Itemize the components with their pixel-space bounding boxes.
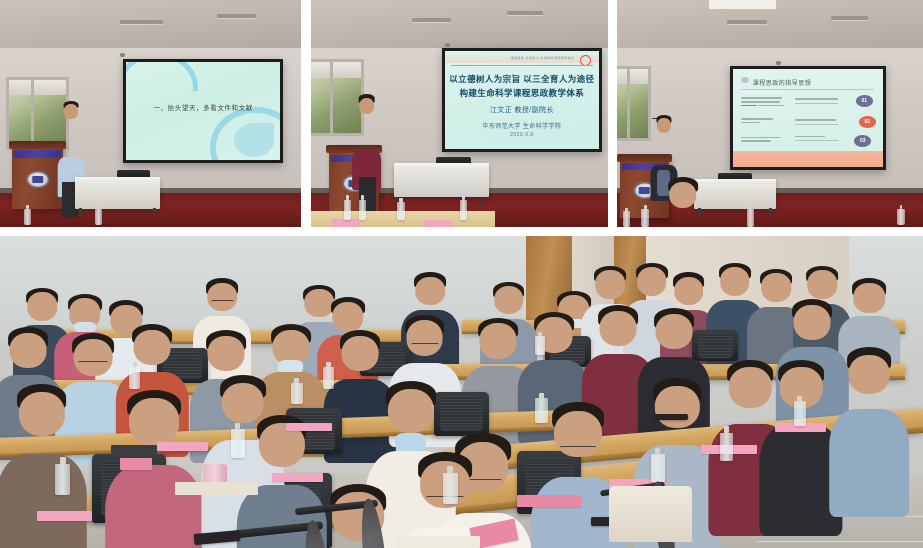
ceiling-vent-icon	[507, 11, 543, 15]
attendee	[258, 423, 304, 504]
attendee	[761, 273, 791, 317]
notebook	[397, 536, 480, 548]
head	[359, 98, 375, 115]
ceiling-vent-icon	[831, 16, 868, 20]
water-bottle	[129, 367, 140, 389]
water-bottle	[95, 209, 102, 225]
table-leg	[79, 208, 82, 216]
slide-bullet-detail	[795, 119, 839, 125]
water-bottle	[397, 202, 405, 220]
lecture-room-1: 一、抬头望天，多看文件和文献	[0, 0, 301, 227]
slide-badge-01: 01	[856, 95, 873, 107]
slide-badge-03: 03	[854, 135, 871, 147]
slide-title-rule	[741, 89, 875, 90]
attendee	[655, 386, 699, 464]
head	[657, 118, 671, 133]
head	[64, 104, 78, 119]
ceiling	[311, 0, 608, 48]
slide-title-line-2: 构建生命科学课程思政教学体系	[445, 87, 599, 99]
slide-content: 课程思政 立德树人 生命科学学院教学体系 以立德树人为宗旨 以三全育人为途径 构…	[445, 51, 599, 149]
ceiling-vent-icon	[217, 14, 256, 18]
slide-bullet-detail	[795, 98, 839, 104]
slide-footer-band	[733, 151, 883, 168]
front-table	[694, 179, 777, 209]
ceiling-vent-icon	[727, 20, 767, 24]
audience-head-foreground	[669, 182, 697, 227]
photo-collage: 一、抬头望天，多看文件和文献	[0, 0, 923, 548]
slide-bullet-group	[741, 137, 782, 144]
attendee	[18, 392, 64, 473]
water-bottle	[359, 200, 367, 220]
slide-title: 课程思政的指导思想	[753, 78, 812, 87]
handout-paper	[157, 442, 208, 451]
projection-screen: 课程思政 立德树人 生命科学学院教学体系 以立德树人为宗旨 以三全育人为途径 构…	[445, 51, 599, 149]
table-edge	[394, 163, 489, 168]
attendee	[849, 355, 890, 427]
window-blind	[9, 80, 66, 95]
slide-content: 课程思政的指导思想 01	[733, 69, 883, 167]
ceiling-light-icon	[709, 0, 776, 9]
water-bottle	[651, 454, 665, 482]
audience-photo-classroom	[0, 236, 923, 548]
slide-bullet-icon	[741, 77, 749, 83]
projection-screen-frame: 课程思政的指导思想 01	[730, 66, 886, 170]
water-bottle	[323, 367, 334, 389]
water-bottle	[231, 429, 245, 457]
window	[617, 66, 651, 141]
water-bottle	[460, 200, 468, 220]
window-blind	[617, 69, 648, 84]
slide-bullet-group	[741, 97, 782, 108]
table-edge	[75, 177, 159, 182]
front-table	[394, 163, 489, 197]
attendee	[272, 330, 309, 386]
attendee-foreground	[554, 411, 602, 498]
water-bottle	[897, 209, 904, 225]
front-table	[75, 177, 159, 209]
slide-bullet-detail	[795, 136, 839, 142]
slide-header-note: 课程思政 立德树人 生命科学学院教学体系	[511, 56, 575, 60]
notebook	[175, 482, 258, 494]
speaker-figure	[354, 98, 379, 189]
attendee	[655, 314, 692, 370]
handout-paper	[517, 495, 582, 507]
slide-heading: 一、抬头望天，多看文件和文献	[126, 102, 280, 112]
lecture-room-3: 课程思政的指导思想 01	[617, 0, 923, 227]
handout-paper	[424, 220, 451, 227]
handout-paper	[272, 473, 323, 482]
water-bottle	[720, 433, 733, 461]
attendee	[729, 367, 771, 442]
water-bottle	[623, 211, 630, 227]
slide-rule	[451, 65, 593, 67]
projection-screen-frame: 一、抬头望天，多看文件和文献	[123, 59, 283, 163]
attendee	[342, 336, 379, 392]
attendee	[720, 267, 750, 311]
slide-presenter: 江文正 教授/副院长	[445, 105, 599, 115]
attendee	[74, 339, 113, 395]
lecture-photo-speaker-three: 课程思政的指导思想 01	[617, 0, 923, 227]
podium	[12, 141, 63, 209]
head	[669, 182, 697, 208]
water-bottle	[747, 209, 754, 227]
attendee	[480, 323, 517, 379]
projection-screen: 课程思政的指导思想 01	[733, 69, 883, 167]
attendee	[305, 289, 335, 333]
water-bottle	[641, 209, 648, 227]
water-bottle	[55, 464, 70, 495]
water-bottle	[443, 473, 458, 504]
window-blind	[311, 62, 361, 78]
water-bottle	[291, 383, 303, 405]
slide-date: 2020.9.9	[445, 132, 599, 138]
attendee	[406, 320, 443, 376]
slide-arc-decor-icon	[126, 62, 197, 123]
table-leg	[698, 208, 701, 216]
table-leg	[769, 208, 772, 216]
handout-paper	[120, 458, 152, 470]
water-bottle	[794, 401, 806, 426]
office-chair	[692, 330, 738, 361]
office-chair	[434, 392, 489, 436]
smartphone	[655, 414, 687, 420]
lecture-room-2: 课程思政 立德树人 生命科学学院教学体系 以立德树人为宗旨 以三全育人为途径 构…	[311, 0, 608, 227]
attendee	[794, 305, 831, 361]
ceiling-vent-icon	[120, 20, 162, 24]
tablet-device	[111, 445, 157, 454]
water-bottle	[535, 336, 545, 355]
floor-seam	[757, 541, 923, 542]
projection-screen: 一、抬头望天，多看文件和文献	[126, 62, 280, 160]
university-crest-icon	[26, 171, 50, 188]
lecture-photo-speaker-two: 课程思政 立德树人 生命科学学院教学体系 以立德树人为宗旨 以三全育人为途径 构…	[311, 0, 608, 227]
slide-affiliation: 华东师范大学 生命科学学院	[445, 121, 599, 130]
projection-screen-frame: 课程思政 立德树人 生命科学学院教学体系 以立德树人为宗旨 以三全育人为途径 构…	[442, 48, 602, 152]
lecture-photo-speaker-one: 一、抬头望天，多看文件和文献	[0, 0, 301, 227]
podium-top	[9, 141, 66, 149]
slide-content: 一、抬头望天，多看文件和文献	[126, 62, 280, 160]
table-edge	[694, 179, 777, 184]
podium-nameplate-icon	[14, 150, 61, 157]
attendee	[208, 283, 238, 327]
slide-title-line-1: 以立德树人为宗旨 以三全育人为途径	[445, 73, 599, 85]
ceiling-vent-icon	[412, 18, 451, 22]
table-leg	[481, 197, 484, 206]
slide-badge-02: 02	[859, 116, 876, 128]
attendee	[854, 283, 885, 327]
handout-paper	[286, 423, 332, 431]
handout-paper	[332, 219, 359, 227]
water-bottle	[344, 200, 352, 220]
tote-bag	[609, 486, 692, 542]
attendee	[415, 277, 445, 321]
attendee	[637, 267, 667, 311]
classroom-scene	[0, 236, 923, 548]
slide-bullet-group	[741, 118, 782, 125]
slide-blob-decor-icon	[234, 123, 274, 156]
table-leg	[153, 208, 156, 216]
attendee	[600, 311, 637, 367]
water-bottle	[24, 209, 31, 225]
attendee	[9, 333, 46, 389]
screen-mount	[445, 43, 450, 47]
handout-paper	[37, 511, 92, 522]
water-bottle	[535, 398, 548, 423]
